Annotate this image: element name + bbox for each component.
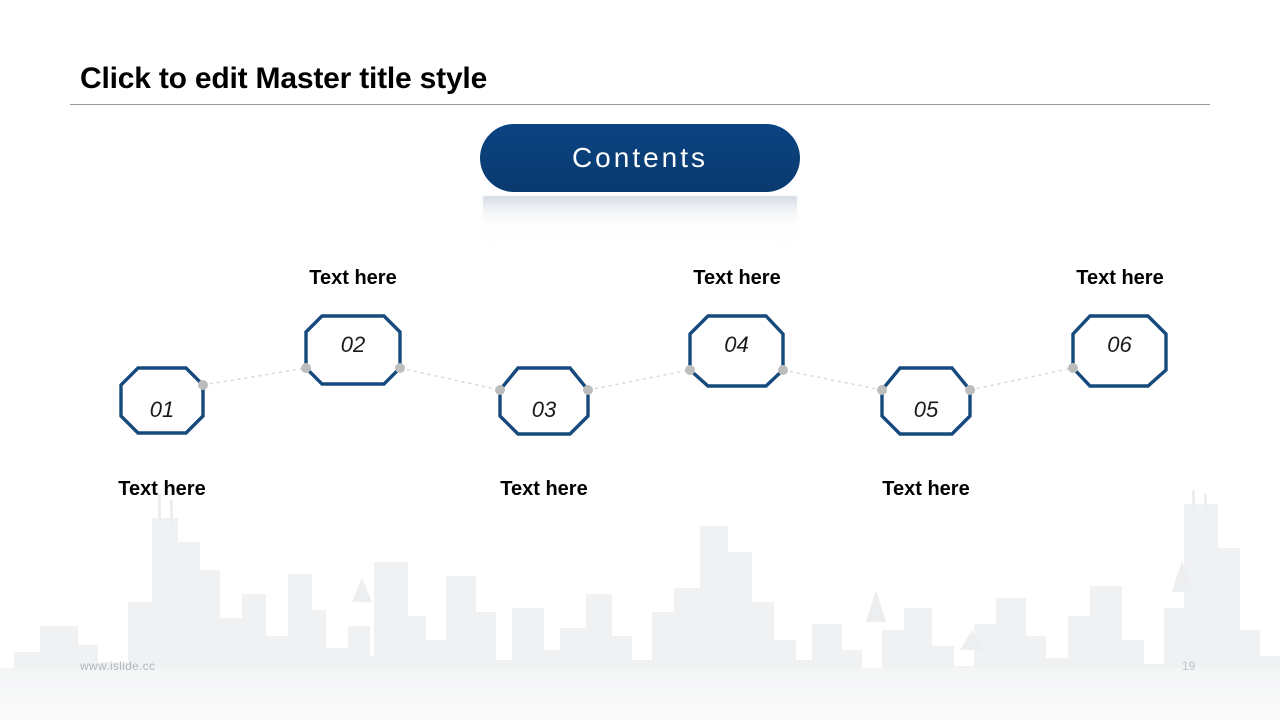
contents-badge-reflection — [483, 196, 797, 244]
slide-canvas: Click to edit Master title style Content… — [0, 0, 1280, 720]
node-label-04: Text here — [657, 267, 817, 290]
node-label-05: Text here — [846, 478, 1006, 501]
title-divider — [70, 104, 1210, 105]
octagon-number-01: 01 — [121, 397, 203, 423]
contents-flow-diagram: 01 02 03 04 05 06 Text here Text here Te… — [0, 250, 1280, 520]
contents-badge-label: Contents — [572, 142, 708, 174]
node-label-01: Text here — [82, 478, 242, 501]
footer-url[interactable]: www.islide.cc — [80, 659, 155, 673]
node-label-03: Text here — [464, 478, 624, 501]
contents-badge[interactable]: Contents — [480, 124, 800, 192]
page-title: Click to edit Master title style — [80, 62, 487, 96]
city-skyline-background — [0, 490, 1280, 720]
skyline-ground — [0, 668, 1280, 720]
node-label-02: Text here — [273, 267, 433, 290]
octagon-number-05: 05 — [882, 397, 970, 423]
octagon-number-04: 04 — [690, 332, 783, 358]
octagon-number-03: 03 — [500, 397, 588, 423]
node-label-06: Text here — [1040, 267, 1200, 290]
page-number: 19 — [1182, 659, 1195, 673]
octagon-number-02: 02 — [306, 332, 400, 358]
octagon-number-06: 06 — [1073, 332, 1166, 358]
